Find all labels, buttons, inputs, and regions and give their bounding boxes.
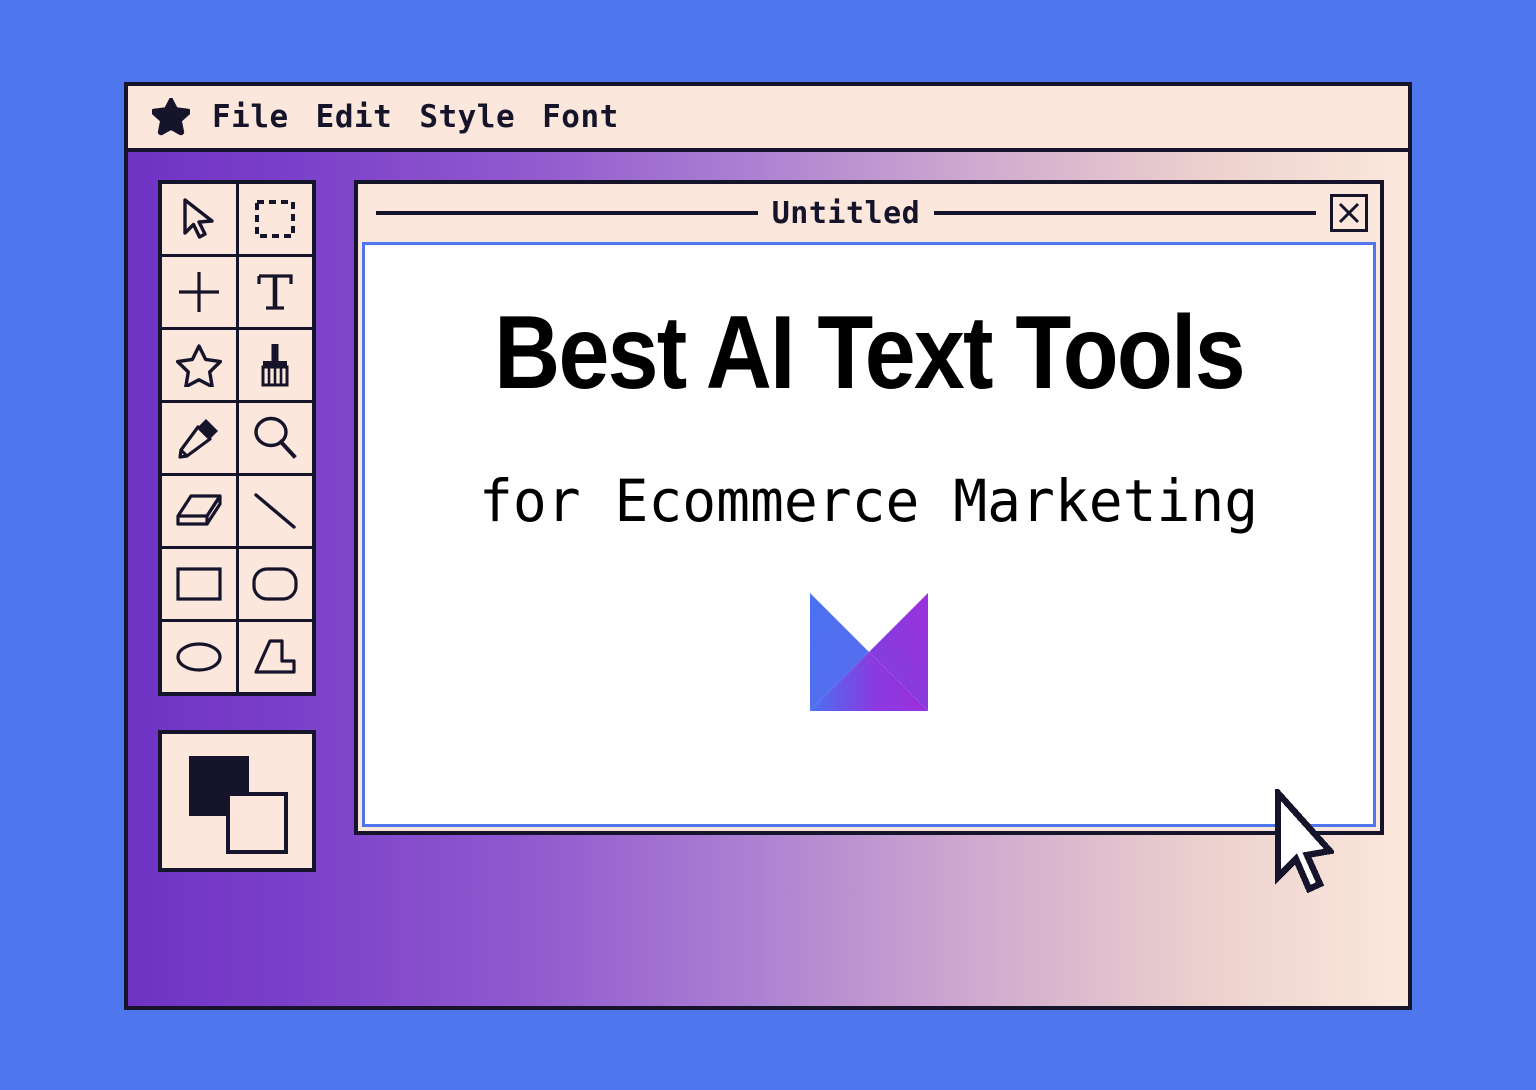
magnifier-icon bbox=[252, 415, 298, 461]
close-icon bbox=[1336, 200, 1362, 226]
canvas-headline: Best AI Text Tools bbox=[494, 301, 1244, 405]
paintbrush-icon bbox=[255, 342, 295, 388]
m-logo-mark bbox=[810, 593, 928, 711]
star-icon bbox=[152, 98, 190, 136]
pencil-tool[interactable] bbox=[162, 403, 236, 473]
zoom-tool[interactable] bbox=[239, 403, 313, 473]
document-canvas[interactable]: Best AI Text Tools for Ecommerce Marketi… bbox=[362, 242, 1376, 827]
color-swatch-panel[interactable] bbox=[158, 730, 316, 872]
eraser-tool[interactable] bbox=[162, 476, 236, 546]
close-button[interactable] bbox=[1330, 194, 1368, 232]
app-window: File Edit Style Font bbox=[124, 82, 1412, 1010]
star-outline-icon bbox=[176, 343, 222, 387]
tool-palette bbox=[158, 180, 316, 1006]
menu-item-file[interactable]: File bbox=[212, 102, 289, 133]
rounded-rect-tool[interactable] bbox=[239, 549, 313, 619]
background-color-swatch[interactable] bbox=[226, 792, 288, 854]
document-window: Untitled Best AI Text Tools for Ecommerc… bbox=[354, 180, 1384, 835]
title-rule-right bbox=[934, 211, 1316, 215]
document-title: Untitled bbox=[772, 196, 921, 231]
crosshair-icon bbox=[176, 269, 222, 315]
polygon-tool[interactable] bbox=[239, 622, 313, 692]
rectangle-tool[interactable] bbox=[162, 549, 236, 619]
star-shape-tool[interactable] bbox=[162, 330, 236, 400]
tool-grid bbox=[158, 180, 316, 696]
rectangle-icon bbox=[175, 565, 223, 603]
dashed-rectangle-icon bbox=[254, 199, 296, 239]
canvas-subheadline: for Ecommerce Marketing bbox=[479, 467, 1258, 535]
crosshair-tool[interactable] bbox=[162, 257, 236, 327]
text-tool[interactable] bbox=[239, 257, 313, 327]
menu-bar: File Edit Style Font bbox=[128, 86, 1408, 152]
menu-item-style[interactable]: Style bbox=[419, 102, 515, 133]
eraser-icon bbox=[175, 491, 223, 531]
line-tool[interactable] bbox=[239, 476, 313, 546]
polygon-icon bbox=[252, 637, 298, 677]
menu-item-list: File Edit Style Font bbox=[212, 102, 619, 133]
ellipse-icon bbox=[175, 639, 223, 675]
marquee-tool[interactable] bbox=[239, 184, 313, 254]
document-title-bar[interactable]: Untitled bbox=[358, 184, 1380, 242]
pointer-tool[interactable] bbox=[162, 184, 236, 254]
text-t-icon bbox=[254, 270, 296, 314]
title-rule-left bbox=[376, 211, 758, 215]
window-body: Untitled Best AI Text Tools for Ecommerc… bbox=[128, 152, 1408, 1006]
cursor-arrow-icon bbox=[179, 197, 219, 241]
pencil-icon bbox=[176, 415, 222, 461]
rounded-rectangle-icon bbox=[251, 565, 299, 603]
menu-item-font[interactable]: Font bbox=[542, 102, 619, 133]
menu-item-edit[interactable]: Edit bbox=[316, 102, 393, 133]
paintbrush-tool[interactable] bbox=[239, 330, 313, 400]
diagonal-line-icon bbox=[252, 491, 298, 531]
ellipse-tool[interactable] bbox=[162, 622, 236, 692]
